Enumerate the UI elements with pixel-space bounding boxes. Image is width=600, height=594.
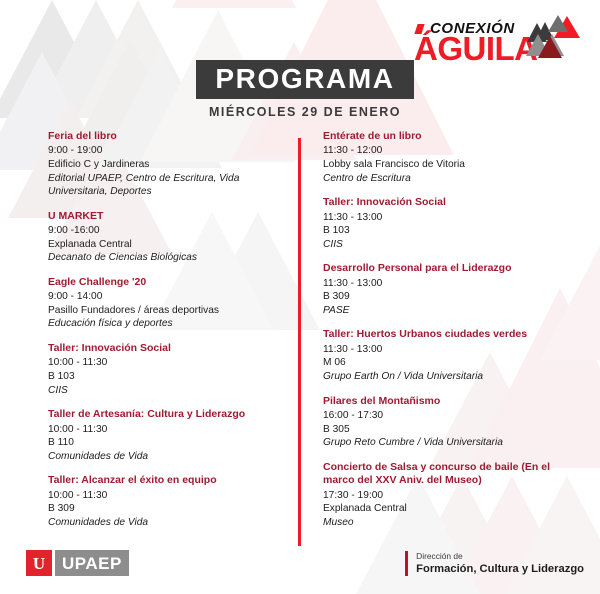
program-date-subtitle: MIÉRCOLES 29 DE ENERO xyxy=(196,105,414,119)
event-time: 11:30 - 13:00 xyxy=(323,277,573,291)
upaep-logo: U UPAEP xyxy=(26,550,129,576)
event-organizer: Decanato de Ciencias Biológicas xyxy=(48,251,288,265)
event-item: Eagle Challenge '20 9:00 - 14:00 Pasillo… xyxy=(48,276,288,331)
event-place: M 06 xyxy=(323,356,573,370)
event-organizer: Museo xyxy=(323,516,573,530)
column-divider xyxy=(298,138,301,546)
event-time: 10:00 - 11:30 xyxy=(48,489,288,503)
direccion-name: Formación, Cultura y Liderazgo xyxy=(416,562,584,576)
event-organizer: Editorial UPAEP, Centro de Escritura, Vi… xyxy=(48,172,288,199)
event-item: Taller de Artesanía: Cultura y Liderazgo… xyxy=(48,408,288,463)
event-item: Concierto de Salsa y concurso de baile (… xyxy=(323,461,573,530)
event-place: Explanada Central xyxy=(48,238,288,252)
event-organizer: Comunidades de Vida xyxy=(48,516,288,530)
event-time: 9:00 - 19:00 xyxy=(48,144,288,158)
upaep-u-mark: U xyxy=(26,550,52,576)
event-place: B 103 xyxy=(323,224,573,238)
event-time: 9:00 - 14:00 xyxy=(48,290,288,304)
direccion-block: Dirección de Formación, Cultura y Lidera… xyxy=(405,551,584,576)
event-item: Entérate de un libro 11:30 - 12:00 Lobby… xyxy=(323,130,573,185)
event-title: Entérate de un libro xyxy=(323,130,573,143)
eagle-triangles-icon xyxy=(524,14,582,60)
conexion-aguila-logo: CONEXIÓN ÁGUILA xyxy=(408,14,588,76)
event-item: Feria del libro 9:00 - 19:00 Edificio C … xyxy=(48,130,288,199)
event-title: Taller: Innovación Social xyxy=(48,342,288,355)
event-item: Taller: Alcanzar el éxito en equipo 10:0… xyxy=(48,474,288,529)
event-title: Pilares del Montañismo xyxy=(323,395,573,408)
event-item: Desarrollo Personal para el Liderazgo 11… xyxy=(323,262,573,317)
event-organizer: Grupo Earth On / Vida Universitaria xyxy=(323,370,573,384)
event-title: Desarrollo Personal para el Liderazgo xyxy=(323,262,573,275)
direccion-label: Dirección de xyxy=(416,551,584,562)
column-right: Entérate de un libro 11:30 - 12:00 Lobby… xyxy=(323,130,573,540)
event-organizer: Comunidades de Vida xyxy=(48,450,288,464)
poster-header: PROGRAMA MIÉRCOLES 29 DE ENERO CONEXIÓN … xyxy=(0,0,600,125)
event-time: 11:30 - 13:00 xyxy=(323,211,573,225)
event-item: U MARKET 9:00 -16:00 Explanada Central D… xyxy=(48,210,288,265)
event-place: B 305 xyxy=(323,423,573,437)
upaep-wordmark: UPAEP xyxy=(55,550,129,576)
program-title-block: PROGRAMA MIÉRCOLES 29 DE ENERO xyxy=(196,60,414,119)
event-place: B 309 xyxy=(48,502,288,516)
logo-aguila-text: ÁGUILA xyxy=(414,32,538,65)
event-time: 11:30 - 13:00 xyxy=(323,343,573,357)
event-time: 16:00 - 17:30 xyxy=(323,409,573,423)
event-item: Taller: Innovación Social 11:30 - 13:00 … xyxy=(323,196,573,251)
event-organizer: Grupo Reto Cumbre / Vida Universitaria xyxy=(323,436,573,450)
event-place: Lobby sala Francisco de Vitoria xyxy=(323,158,573,172)
event-time: 10:00 - 11:30 xyxy=(48,423,288,437)
event-title: Taller de Artesanía: Cultura y Liderazgo xyxy=(48,408,288,421)
column-left: Feria del libro 9:00 - 19:00 Edificio C … xyxy=(48,130,288,540)
event-place: B 110 xyxy=(48,436,288,450)
event-item: Pilares del Montañismo 16:00 - 17:30 B 3… xyxy=(323,395,573,450)
event-organizer: CIIS xyxy=(48,384,288,398)
event-title: Taller: Alcanzar el éxito en equipo xyxy=(48,474,288,487)
event-place: Edificio C y Jardineras xyxy=(48,158,288,172)
event-organizer: Centro de Escritura xyxy=(323,172,573,186)
poster-canvas: PROGRAMA MIÉRCOLES 29 DE ENERO CONEXIÓN … xyxy=(0,0,600,594)
event-time: 17:30 - 19:00 xyxy=(323,489,573,503)
event-title: Concierto de Salsa y concurso de baile (… xyxy=(323,461,573,488)
event-place: B 309 xyxy=(323,290,573,304)
event-title: U MARKET xyxy=(48,210,288,223)
event-organizer: PASE xyxy=(323,304,573,318)
event-time: 11:30 - 12:00 xyxy=(323,144,573,158)
poster-footer: U UPAEP Dirección de Formación, Cultura … xyxy=(0,538,600,594)
page-title: PROGRAMA xyxy=(206,65,404,93)
upaep-u-glyph: U xyxy=(33,555,45,572)
event-time: 10:00 - 11:30 xyxy=(48,356,288,370)
event-organizer: Educación física y deportes xyxy=(48,317,288,331)
event-item: Taller: Innovación Social 10:00 - 11:30 … xyxy=(48,342,288,397)
event-place: Explanada Central xyxy=(323,502,573,516)
program-banner: PROGRAMA xyxy=(196,60,414,99)
event-place: Pasillo Fundadores / áreas deportivas xyxy=(48,304,288,318)
upaep-wordmark-text: UPAEP xyxy=(62,555,122,572)
event-place: B 103 xyxy=(48,370,288,384)
event-title: Feria del libro xyxy=(48,130,288,143)
event-title: Taller: Huertos Urbanos ciudades verdes xyxy=(323,328,573,341)
event-time: 9:00 -16:00 xyxy=(48,224,288,238)
event-title: Eagle Challenge '20 xyxy=(48,276,288,289)
event-title: Taller: Innovación Social xyxy=(323,196,573,209)
event-item: Taller: Huertos Urbanos ciudades verdes … xyxy=(323,328,573,383)
event-organizer: CIIS xyxy=(323,238,573,252)
